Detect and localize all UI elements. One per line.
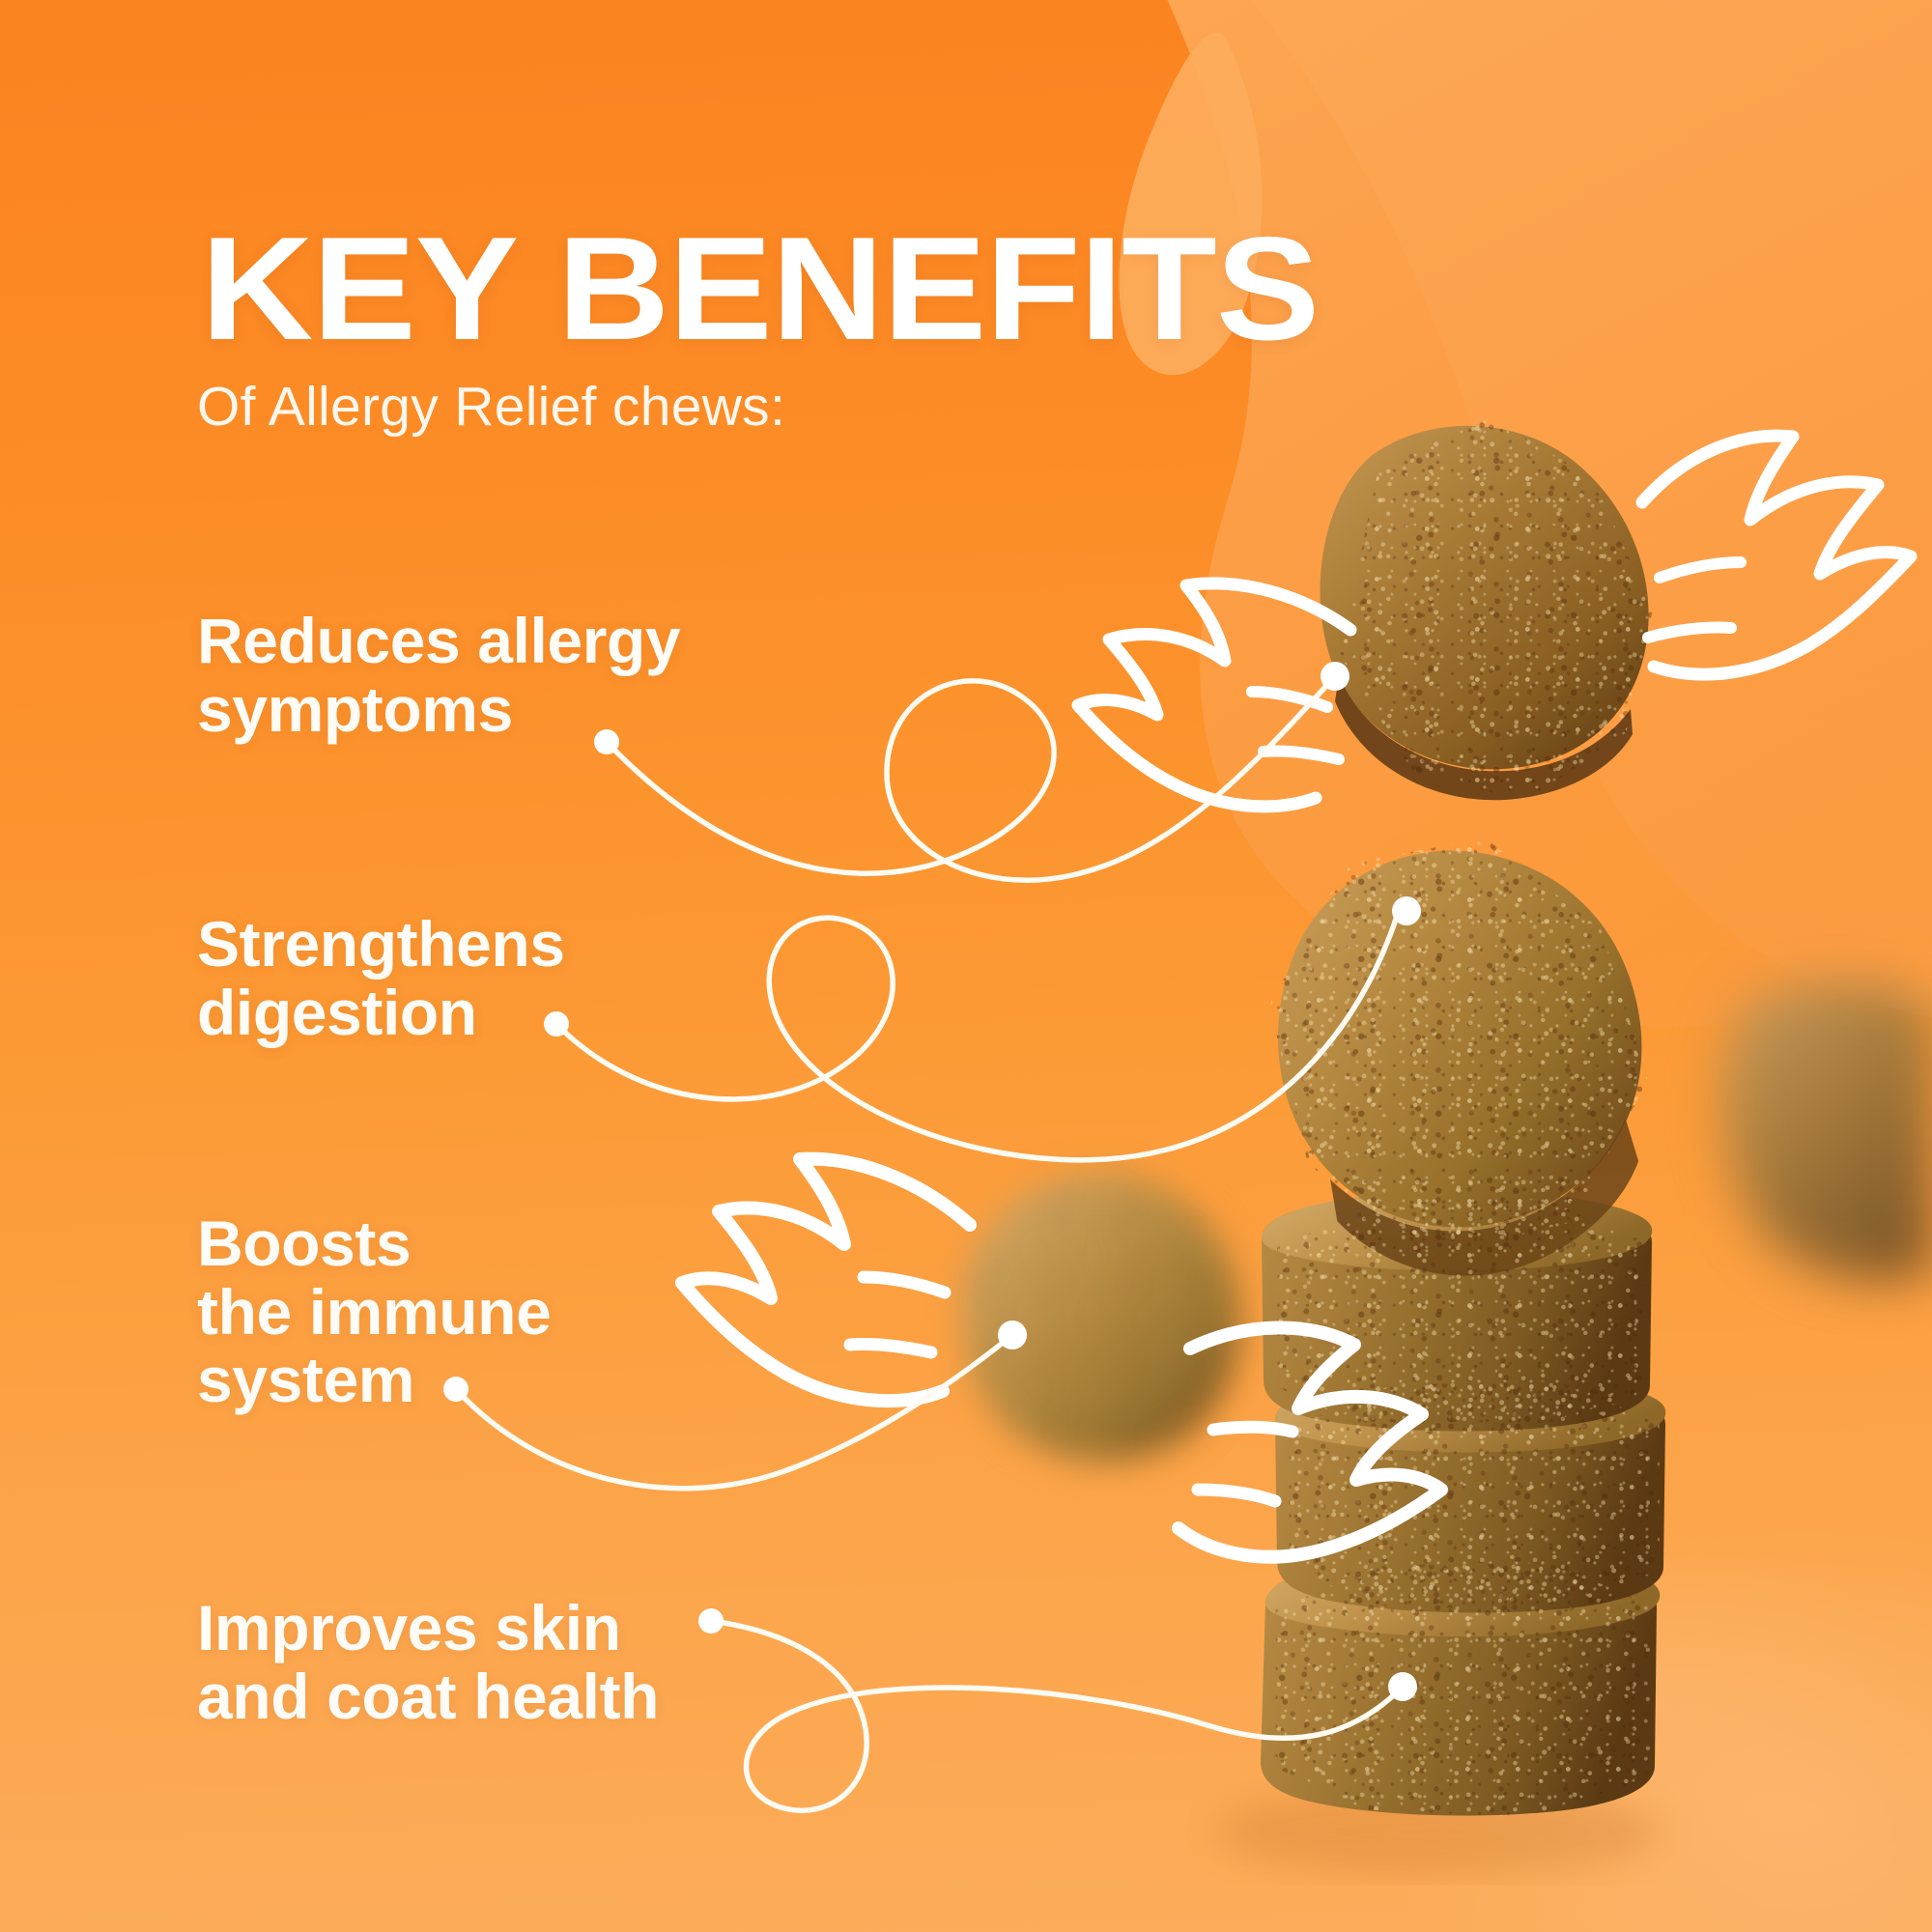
poster-canvas: KEY BENEFITS Of Allergy Relief chews: Re… [0,0,1932,1932]
treat-offscreen-blurred [0,0,1932,1932]
treat-stack-photo [0,0,1932,1932]
